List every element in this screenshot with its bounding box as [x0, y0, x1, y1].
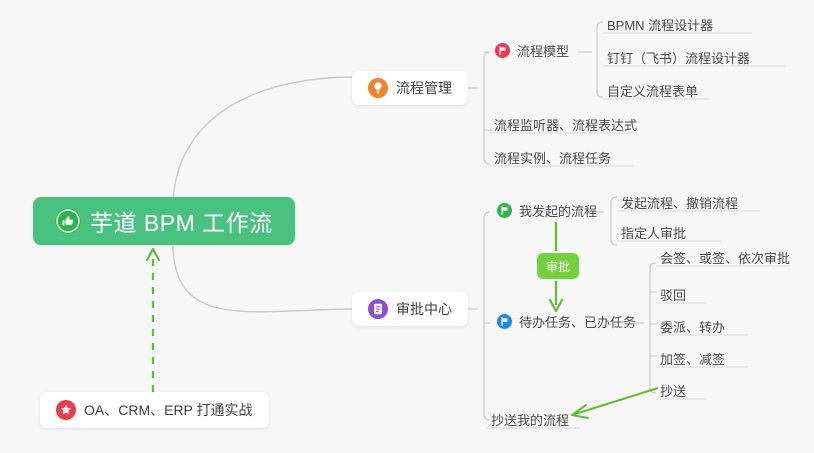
- node-countersign[interactable]: 会签、或签、依次审批: [653, 243, 797, 267]
- node-custom-form[interactable]: 自定义流程表单: [600, 76, 705, 100]
- node-label-start-cancel-process: 发起流程、撤销流程: [621, 197, 738, 210]
- arrow-footnote-head: [147, 249, 159, 260]
- node-process-listener[interactable]: 流程监听器、流程表达式: [487, 110, 644, 134]
- footnote-label: OA、CRM、ERP 打通实战: [84, 400, 253, 420]
- mindmap-canvas: 芋道 BPM 工作流 OA、CRM、ERP 打通实战 流程管理: [0, 0, 814, 453]
- flag-icon-green: [497, 203, 512, 218]
- flag-icon-red: [495, 43, 510, 58]
- node-label-cc: 抄送: [660, 385, 686, 398]
- document-icon: [368, 299, 388, 319]
- edge-root-to-process-management: [173, 77, 352, 205]
- node-start-cancel-process[interactable]: 发起流程、撤销流程: [614, 188, 745, 212]
- node-label-bpmn-designer: BPMN 流程设计器: [607, 19, 713, 32]
- node-label-add-remove-sign: 加签、减签: [660, 353, 725, 366]
- branch-label-process-management: 流程管理: [396, 78, 452, 98]
- node-my-initiated[interactable]: 我发起的流程: [490, 201, 604, 223]
- node-label-process-instance: 流程实例、流程任务: [494, 152, 611, 165]
- node-cc-my-process[interactable]: 抄送我的流程: [484, 405, 576, 429]
- branch-approval-center[interactable]: 审批中心: [352, 292, 468, 326]
- node-label-my-initiated: 我发起的流程: [519, 205, 597, 218]
- node-reject[interactable]: 驳回: [653, 280, 693, 304]
- root-node[interactable]: 芋道 BPM 工作流: [33, 197, 295, 245]
- annotation-approval-tag: 审批: [537, 253, 579, 279]
- arrow-cc-link: [575, 388, 658, 414]
- node-label-assignee-approval: 指定人审批: [621, 227, 686, 240]
- footnote-node[interactable]: OA、CRM、ERP 打通实战: [40, 392, 269, 428]
- edge-root-to-approval-center: [173, 246, 352, 312]
- node-label-todo-done-tasks: 待办任务、已办任务: [519, 316, 636, 329]
- node-add-remove-sign[interactable]: 加签、减签: [653, 344, 732, 368]
- star-icon: [56, 400, 76, 420]
- node-label-delegate-transfer: 委派、转办: [660, 321, 725, 334]
- node-process-instance[interactable]: 流程实例、流程任务: [487, 143, 618, 167]
- node-process-model[interactable]: 流程模型: [488, 41, 576, 63]
- node-label-process-model: 流程模型: [517, 45, 569, 58]
- lightbulb-icon: [368, 78, 388, 98]
- node-delegate-transfer[interactable]: 委派、转办: [653, 312, 732, 336]
- annotation-approval-tag-label: 审批: [546, 258, 570, 275]
- node-label-process-listener: 流程监听器、流程表达式: [494, 119, 637, 132]
- node-label-custom-form: 自定义流程表单: [607, 85, 698, 98]
- flag-icon-blue: [497, 314, 512, 329]
- branch-label-approval-center: 审批中心: [396, 299, 452, 319]
- node-cc[interactable]: 抄送: [653, 376, 693, 400]
- branch-process-management[interactable]: 流程管理: [352, 71, 468, 105]
- node-dingtalk-designer[interactable]: 钉钉（飞书）流程设计器: [600, 43, 757, 67]
- node-label-dingtalk-designer: 钉钉（飞书）流程设计器: [607, 52, 750, 65]
- root-label: 芋道 BPM 工作流: [90, 204, 273, 238]
- node-label-reject: 驳回: [660, 289, 686, 302]
- node-label-cc-my-process: 抄送我的流程: [491, 414, 569, 427]
- arrow-approval-head: [550, 300, 562, 311]
- node-assignee-approval[interactable]: 指定人审批: [614, 218, 693, 242]
- node-bpmn-designer[interactable]: BPMN 流程设计器: [600, 10, 720, 34]
- node-todo-done-tasks[interactable]: 待办任务、已办任务: [490, 312, 643, 334]
- thumbs-up-icon: [55, 208, 81, 234]
- node-label-countersign: 会签、或签、依次审批: [660, 252, 790, 265]
